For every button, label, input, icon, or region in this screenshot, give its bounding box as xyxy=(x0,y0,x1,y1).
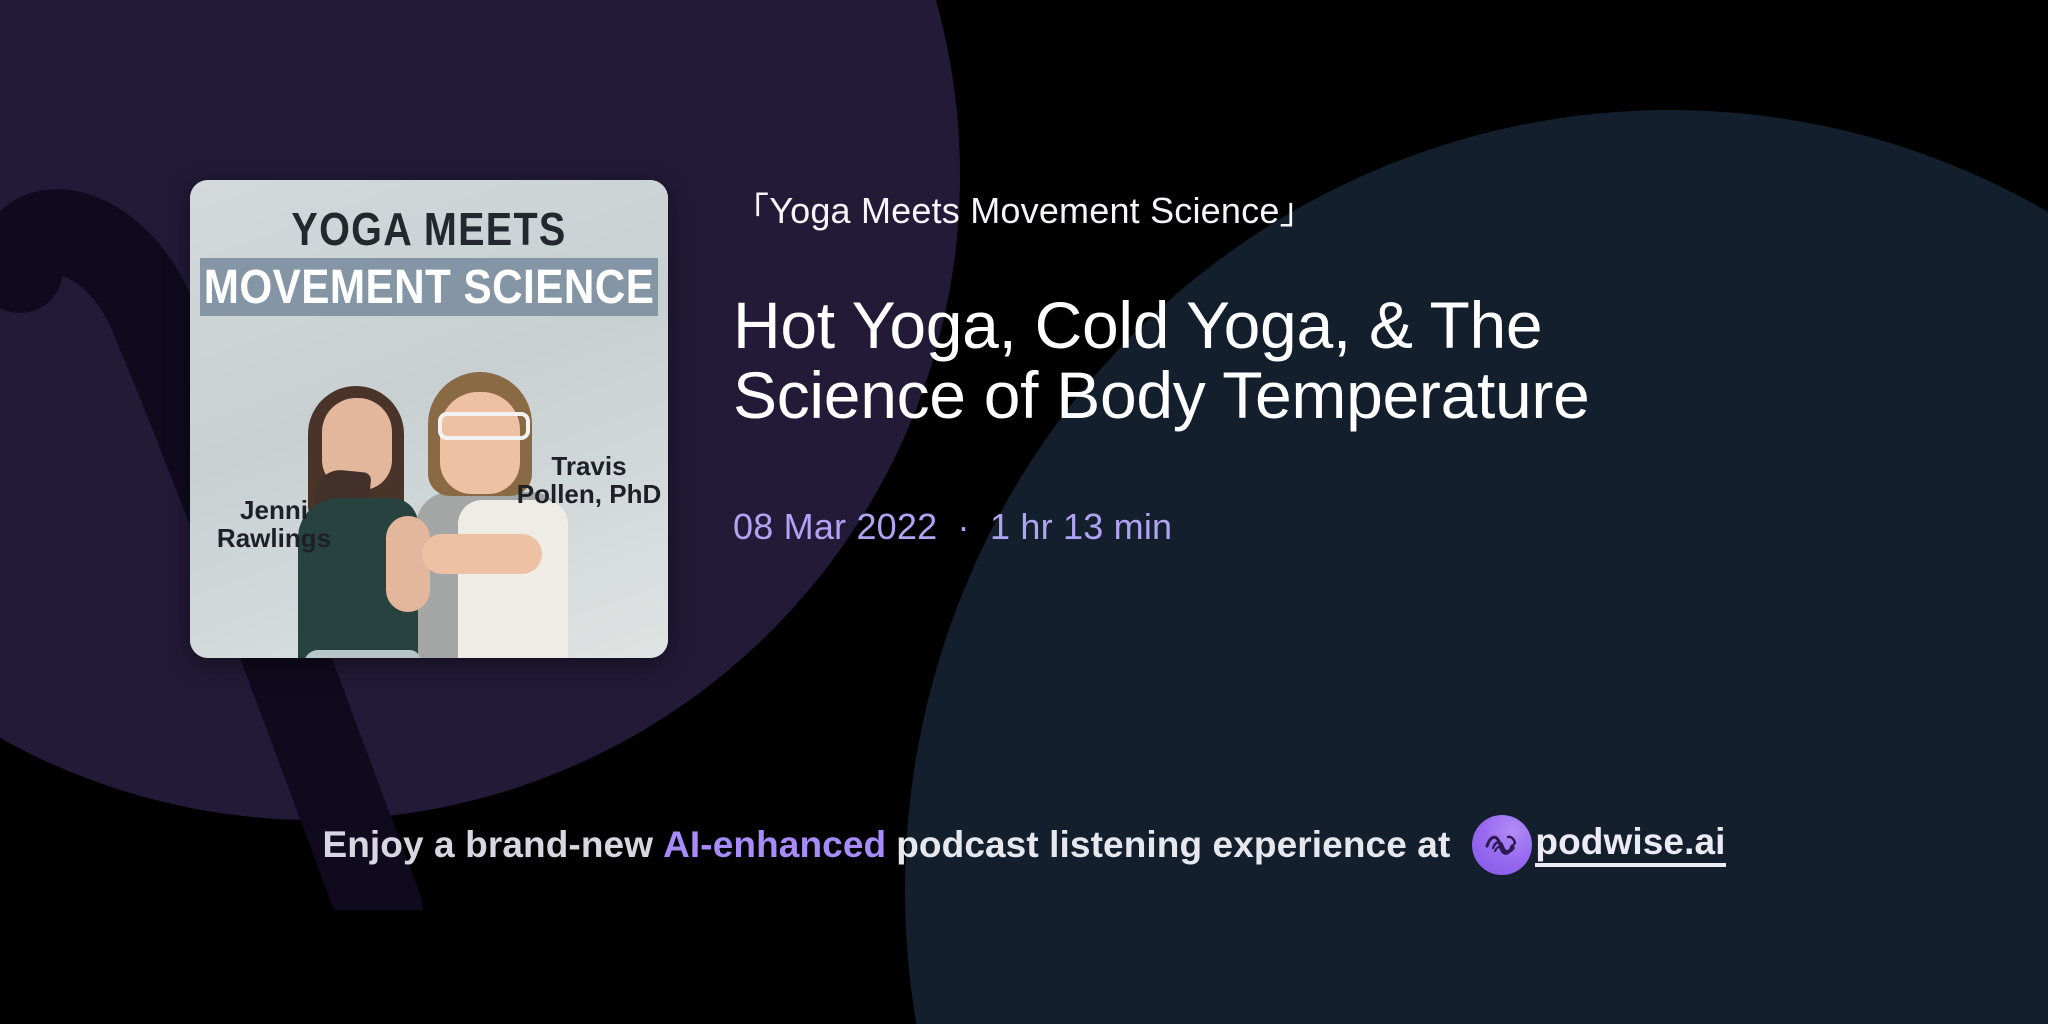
cover-photo: Jenni Rawlings Travis Pollen, PhD xyxy=(190,320,668,658)
host-left-firstname: Jenni xyxy=(204,496,344,524)
podcast-cover-art[interactable]: Jenni Rawlings Travis Pollen, PhD YOGA M… xyxy=(190,180,668,658)
episode-date: 08 Mar 2022 xyxy=(733,506,937,547)
promo-bar: Enjoy a brand-new AI-enhanced podcast li… xyxy=(0,815,2048,875)
podcast-name[interactable]: 「Yoga Meets Movement Science」 xyxy=(733,182,1913,234)
host-left-lastname: Rawlings xyxy=(204,524,344,552)
host-right-lastname: Pollen, PhD xyxy=(514,480,664,508)
meta-separator: · xyxy=(948,506,980,547)
host-right-face xyxy=(440,392,520,494)
episode-info: 「Yoga Meets Movement Science」 Hot Yoga, … xyxy=(733,182,1913,548)
host-left-arm xyxy=(386,516,430,612)
episode-title: Hot Yoga, Cold Yoga, & The Science of Bo… xyxy=(733,291,1698,431)
cover-title-band: MOVEMENT SCIENCE xyxy=(200,258,658,316)
episode-duration: 1 hr 13 min xyxy=(990,506,1172,547)
host-right-shirt xyxy=(458,500,568,658)
podwise-link-group[interactable]: podwise.ai xyxy=(1472,815,1725,875)
host-right-firstname: Travis xyxy=(514,452,664,480)
host-right-arm xyxy=(422,534,542,574)
share-card: Jenni Rawlings Travis Pollen, PhD YOGA M… xyxy=(0,0,2048,1024)
episode-meta: 08 Mar 2022 · 1 hr 13 min xyxy=(733,506,1913,548)
podwise-link[interactable]: podwise.ai xyxy=(1535,823,1725,867)
host-left-pants xyxy=(304,650,420,658)
promo-text-after: podcast listening experience at xyxy=(886,824,1450,866)
promo-highlight: AI-enhanced xyxy=(653,824,886,866)
promo-text-before: Enjoy a brand-new xyxy=(322,824,653,866)
cover-title-line-2: MOVEMENT SCIENCE xyxy=(204,260,655,315)
podwise-wave-logo-icon xyxy=(1472,815,1532,875)
cover-title-line-1: YOGA MEETS xyxy=(223,202,634,256)
host-right-glasses-icon xyxy=(438,412,530,440)
host-left-name: Jenni Rawlings xyxy=(204,496,344,552)
host-right-name: Travis Pollen, PhD xyxy=(514,452,664,508)
